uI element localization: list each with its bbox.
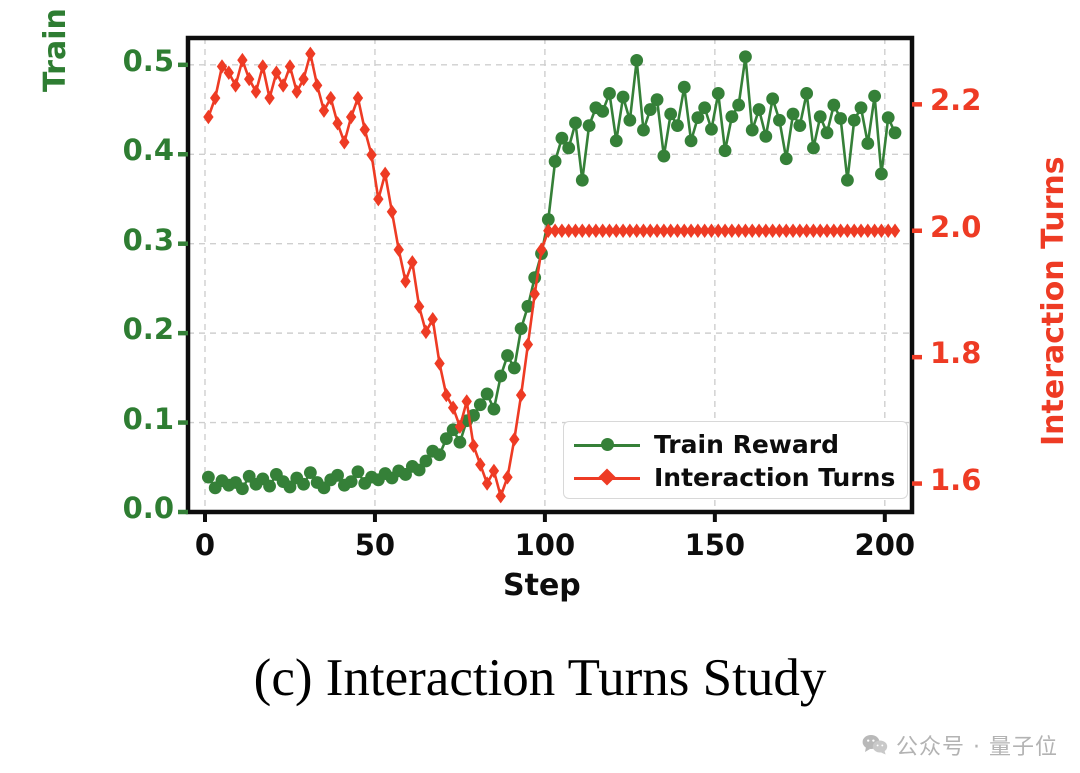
ytick-right-3: 1.6 <box>930 463 1040 497</box>
ytick-right-1: 2.0 <box>930 210 1040 244</box>
legend-entry-train-reward: Train Reward <box>574 428 895 461</box>
watermark-text: 公众号 · 量子位 <box>896 729 1058 761</box>
x-axis-label: Step <box>503 568 581 603</box>
y-axis-label-right: Interaction Turns <box>1036 156 1071 446</box>
xtick-3: 150 <box>660 528 770 562</box>
ytick-left-3: 0.2 <box>64 312 174 346</box>
ytick-left-5: 0.0 <box>64 491 174 525</box>
legend-marker-diamond-icon <box>574 467 640 489</box>
ytick-left-2: 0.3 <box>64 223 174 257</box>
legend-label-train-reward: Train Reward <box>654 430 839 459</box>
ytick-left-0: 0.5 <box>64 44 174 78</box>
legend-marker-circle-icon <box>574 434 640 456</box>
legend-label-interaction-turns: Interaction Turns <box>654 463 895 492</box>
xtick-4: 200 <box>830 528 940 562</box>
xtick-2: 100 <box>490 528 600 562</box>
xtick-0: 0 <box>150 528 260 562</box>
ytick-left-1: 0.4 <box>64 133 174 167</box>
watermark: 公众号 · 量子位 <box>862 729 1058 761</box>
ytick-right-2: 1.8 <box>930 336 1040 370</box>
chart-legend: Train Reward Interaction Turns <box>563 421 908 499</box>
ytick-right-0: 2.2 <box>930 83 1040 117</box>
figure-caption: (c) Interaction Turns Study <box>0 648 1080 708</box>
y-axis-label-left: Train Reward <box>38 0 73 92</box>
legend-entry-interaction-turns: Interaction Turns <box>574 461 895 494</box>
wechat-icon <box>862 734 888 756</box>
ytick-left-4: 0.1 <box>64 402 174 436</box>
xtick-1: 50 <box>320 528 430 562</box>
figure-panel: 0.5 0.4 0.3 0.2 0.1 0.0 2.2 2.0 1.8 1.6 … <box>0 0 1080 640</box>
